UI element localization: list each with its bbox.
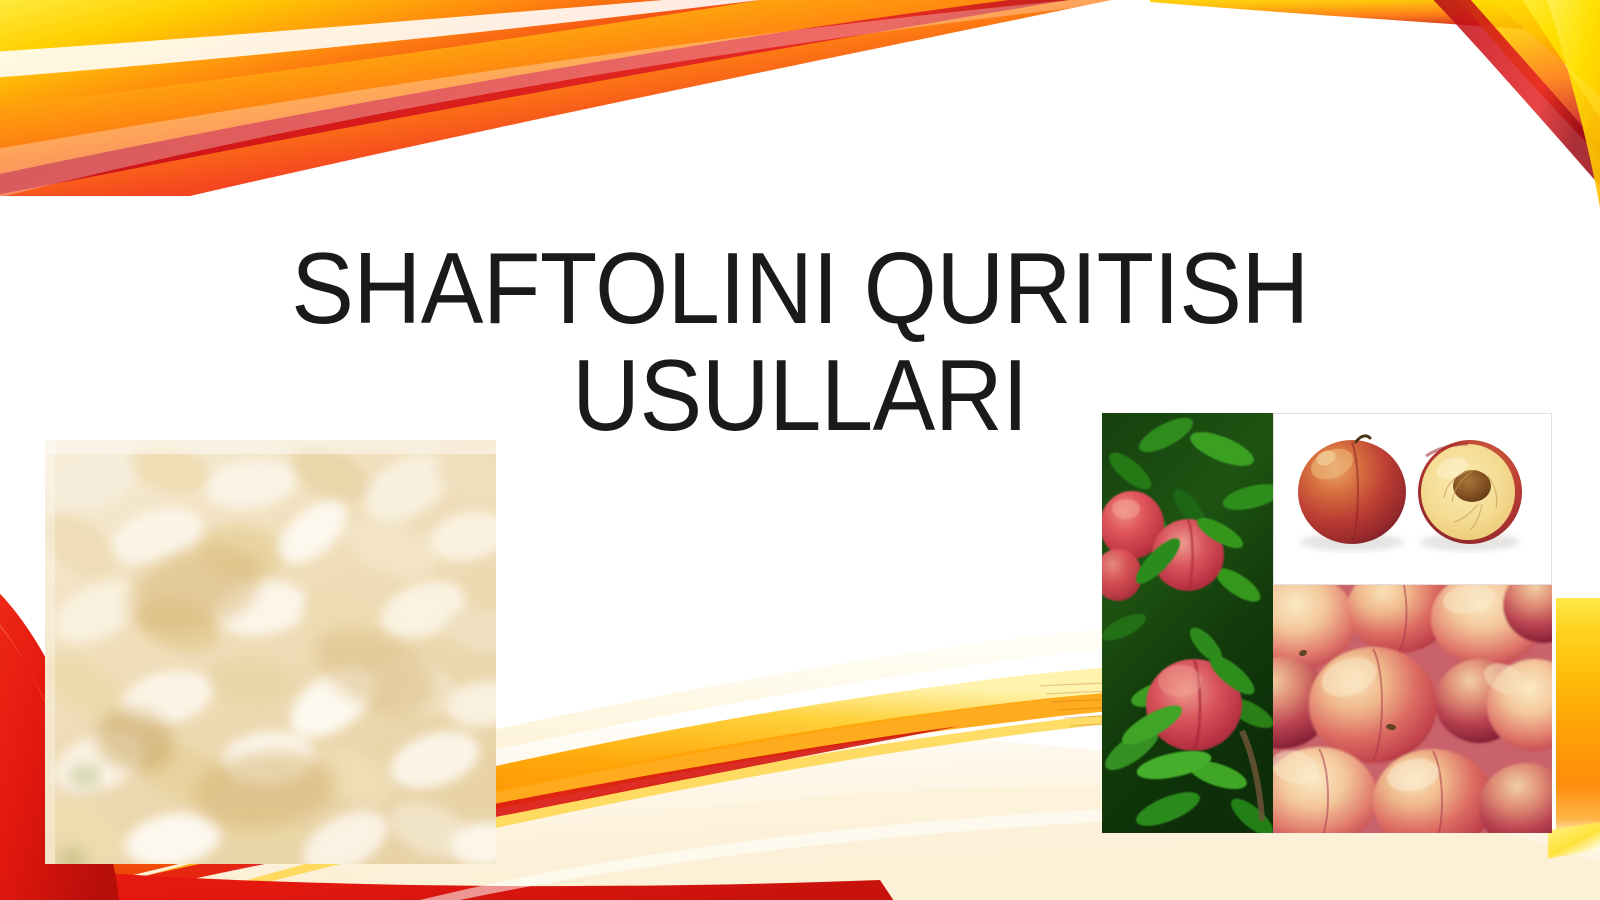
- pile-of-peaches-panel: [1273, 585, 1552, 833]
- right-edge-ribbon-decoration: [1556, 598, 1600, 836]
- dried-peach-slices-photo[interactable]: [45, 440, 496, 864]
- peaches-on-tree-panel: [1102, 413, 1273, 833]
- presentation-slide: SHAFTOLINI QURITISH USULLARI: [0, 0, 1600, 900]
- slide-title-block: SHAFTOLINI QURITISH USULLARI: [200, 236, 1400, 450]
- fresh-peach-collage[interactable]: [1102, 413, 1552, 833]
- page-title: SHAFTOLINI QURITISH USULLARI: [242, 236, 1358, 450]
